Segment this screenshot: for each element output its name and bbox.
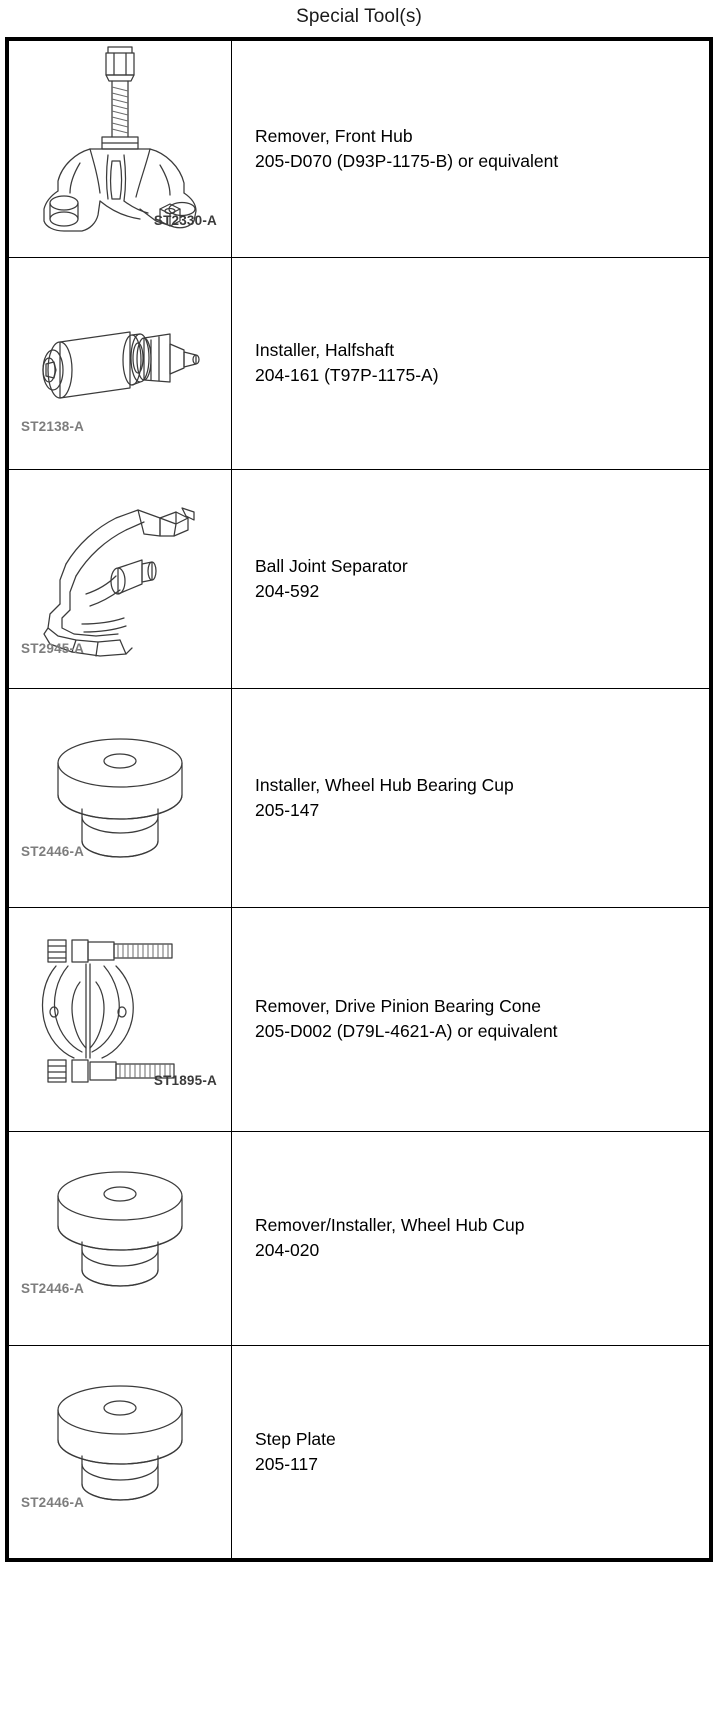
tool-part-number: 204-592 [255, 579, 699, 604]
tool-code-label: ST2138-A [21, 419, 84, 434]
tool-description-cell: Ball Joint Separator 204-592 [232, 469, 712, 688]
tool-part-number: 205-D002 (D79L-4621-A) or equivalent [255, 1019, 699, 1044]
tool-image-cell: ST2945-A [7, 469, 232, 688]
tool-code-label: ST2446-A [21, 1495, 84, 1510]
tool-description-cell: Remover, Front Hub 205-D070 (D93P-1175-B… [232, 39, 712, 257]
tool-part-number: 204-020 [255, 1238, 699, 1263]
tool-description-cell: Installer, Halfshaft 204-161 (T97P-1175-… [232, 257, 712, 469]
table-row: ST2446-A Step Plate 205-117 [7, 1345, 711, 1560]
ball-joint-separator-illustration [20, 484, 220, 664]
tool-name: Remover, Drive Pinion Bearing Cone [255, 994, 699, 1019]
tool-name: Installer, Wheel Hub Bearing Cup [255, 773, 699, 798]
tool-description-cell: Installer, Wheel Hub Bearing Cup 205-147 [232, 688, 712, 907]
tool-name: Installer, Halfshaft [255, 338, 699, 363]
tool-part-number: 205-117 [255, 1452, 699, 1477]
tool-part-number: 204-161 (T97P-1175-A) [255, 363, 699, 388]
tool-code-label: ST2446-A [21, 844, 84, 859]
table-row: ST2330-A Remover, Front Hub 205-D070 (D9… [7, 39, 711, 257]
tool-code-label: ST2446-A [21, 1281, 84, 1296]
table-row: ST1895-A Remover, Drive Pinion Bearing C… [7, 907, 711, 1131]
tool-image-cell: ST1895-A [7, 907, 232, 1131]
page-title: Special Tool(s) [0, 0, 718, 37]
table-row: ST2446-A Remover/Installer, Wheel Hub Cu… [7, 1131, 711, 1345]
special-tools-table: ST2330-A Remover, Front Hub 205-D070 (D9… [5, 37, 713, 1562]
special-tools-page: Special Tool(s) [0, 0, 718, 1710]
tool-image-cell: ST2330-A [7, 39, 232, 257]
tool-name: Ball Joint Separator [255, 554, 699, 579]
front-hub-remover-illustration [20, 41, 220, 236]
tool-code-label: ST2330-A [154, 213, 217, 228]
tool-description-cell: Step Plate 205-117 [232, 1345, 712, 1560]
tool-name: Remover, Front Hub [255, 124, 699, 149]
tool-name: Remover/Installer, Wheel Hub Cup [255, 1213, 699, 1238]
table-row: ST2446-A Installer, Wheel Hub Bearing Cu… [7, 688, 711, 907]
tool-description-cell: Remover/Installer, Wheel Hub Cup 204-020 [232, 1131, 712, 1345]
tool-image-cell: ST2446-A [7, 1131, 232, 1345]
tool-part-number: 205-147 [255, 798, 699, 823]
tool-code-label: ST2945-A [21, 641, 84, 656]
tool-name: Step Plate [255, 1427, 699, 1452]
tool-part-number: 205-D070 (D93P-1175-B) or equivalent [255, 149, 699, 174]
tool-code-label: ST1895-A [154, 1073, 217, 1088]
tool-image-cell: ST2446-A [7, 1345, 232, 1560]
table-row: ST2945-A Ball Joint Separator 204-592 [7, 469, 711, 688]
drive-pinion-bearing-cone-remover-illustration [20, 926, 220, 1096]
tool-description-cell: Remover, Drive Pinion Bearing Cone 205-D… [232, 907, 712, 1131]
tool-image-cell: ST2138-A [7, 257, 232, 469]
table-row: ST2138-A Installer, Halfshaft 204-161 (T… [7, 257, 711, 469]
tool-image-cell: ST2446-A [7, 688, 232, 907]
